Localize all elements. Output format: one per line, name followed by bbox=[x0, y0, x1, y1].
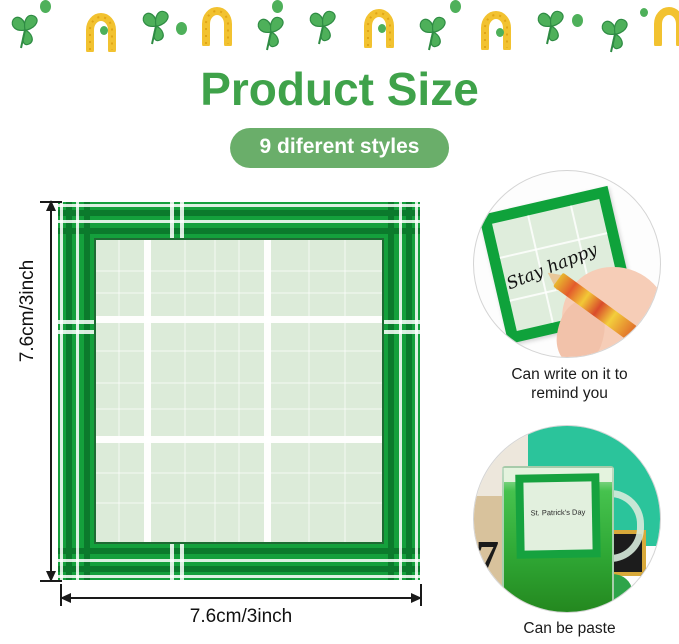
calendar-number: 7 bbox=[476, 530, 499, 583]
caption-can-be-paste: Can be paste bbox=[460, 619, 679, 638]
caption-write-on-it: Can write on it to remind you bbox=[460, 365, 679, 403]
product-image bbox=[58, 202, 420, 580]
clover-icon bbox=[528, 2, 574, 48]
photo-write-on-it: Stay happy bbox=[473, 170, 661, 358]
dot-icon bbox=[272, 0, 283, 13]
horseshoe-icon bbox=[475, 4, 517, 50]
clover-icon bbox=[410, 8, 456, 54]
top-decorative-border bbox=[0, 0, 679, 58]
dot-icon bbox=[176, 22, 187, 35]
clover-icon bbox=[248, 8, 294, 54]
width-label: 7.6cm/3inch bbox=[60, 606, 422, 628]
horseshoe-icon bbox=[196, 0, 238, 46]
caption-line-1: Can write on it to bbox=[511, 366, 627, 383]
photo-can-be-paste: 7 St. Patrick's Day bbox=[473, 425, 661, 613]
dot-icon bbox=[496, 28, 504, 37]
clover-icon bbox=[592, 10, 638, 56]
horseshoe-icon bbox=[648, 0, 679, 46]
page-title: Product Size bbox=[0, 62, 679, 116]
clover-icon bbox=[2, 6, 48, 52]
sticky-note-interior bbox=[94, 238, 384, 544]
dot-icon bbox=[572, 14, 583, 27]
height-measure-arrow bbox=[50, 200, 52, 582]
dot-icon bbox=[640, 8, 648, 17]
note-st-patricks-day: St. Patrick's Day bbox=[515, 473, 600, 558]
sticky-note-plaid bbox=[58, 202, 420, 580]
dot-icon bbox=[450, 0, 461, 13]
height-label: 7.6cm/3inch bbox=[17, 241, 39, 381]
width-measure-arrow bbox=[60, 597, 422, 599]
dot-icon bbox=[100, 26, 108, 35]
styles-badge: 9 diferent styles bbox=[230, 128, 450, 168]
caption-line-2: remind you bbox=[531, 385, 608, 402]
dot-icon bbox=[378, 24, 386, 33]
note-text: St. Patrick's Day bbox=[516, 507, 600, 517]
clover-icon bbox=[133, 2, 179, 48]
dot-icon bbox=[40, 0, 51, 13]
clover-icon bbox=[300, 2, 346, 48]
